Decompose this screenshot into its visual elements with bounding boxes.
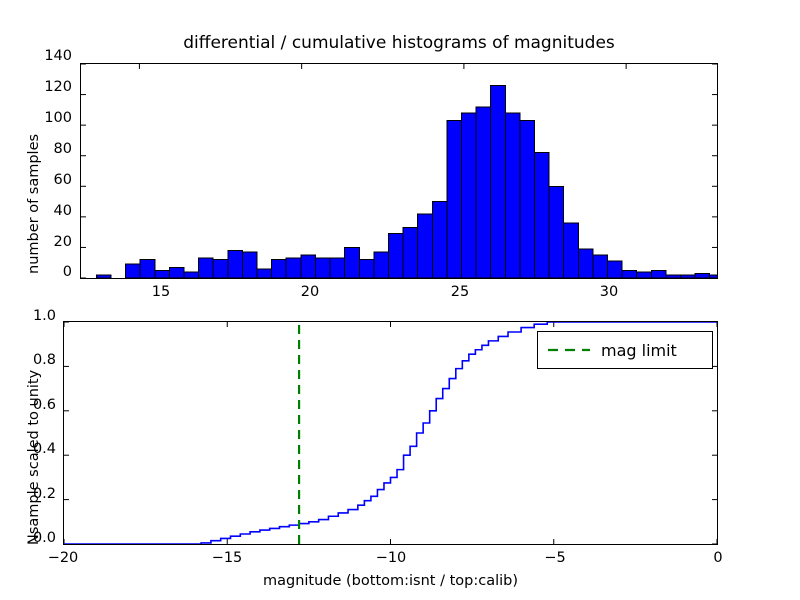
dashed-line-icon bbox=[547, 344, 591, 356]
figure-title: differential / cumulative histograms of … bbox=[80, 33, 718, 53]
bottom-ytick-04: 0.4 bbox=[12, 441, 56, 457]
top-ytick-0: 0 bbox=[34, 264, 72, 280]
bottom-xtick-m20: −20 bbox=[43, 550, 83, 566]
top-ytick-100: 100 bbox=[34, 110, 72, 126]
top-xtick-20: 20 bbox=[290, 284, 330, 300]
bottom-xtick-m15: −15 bbox=[207, 550, 247, 566]
top-ytick-120: 120 bbox=[34, 79, 72, 95]
differential-histogram-plot bbox=[81, 64, 717, 278]
legend: mag limit bbox=[537, 331, 713, 369]
bottom-xtick-m5: −5 bbox=[535, 550, 575, 566]
top-ytick-40: 40 bbox=[34, 203, 72, 219]
bottom-ytick-10: 1.0 bbox=[12, 308, 56, 324]
top-xtick-30: 30 bbox=[589, 284, 629, 300]
top-ytick-140: 140 bbox=[34, 48, 72, 64]
top-ytick-60: 60 bbox=[34, 172, 72, 188]
bottom-ytick-00: 0.0 bbox=[12, 530, 56, 546]
legend-label: mag limit bbox=[601, 341, 677, 360]
top-ytick-20: 20 bbox=[34, 234, 72, 250]
top-panel-axes bbox=[80, 63, 718, 279]
bottom-ytick-02: 0.2 bbox=[12, 486, 56, 502]
top-ytick-80: 80 bbox=[34, 141, 72, 157]
bottom-xtick-0: 0 bbox=[698, 550, 738, 566]
bottom-xtick-m10: −10 bbox=[371, 550, 411, 566]
top-xtick-25: 25 bbox=[440, 284, 480, 300]
figure-canvas: differential / cumulative histograms of … bbox=[0, 0, 800, 600]
bottom-ytick-06: 0.6 bbox=[12, 397, 56, 413]
bottom-panel-xlabel: magnitude (bottom:isnt / top:calib) bbox=[63, 573, 718, 589]
top-xtick-15: 15 bbox=[141, 284, 181, 300]
legend-entry-mag-limit[interactable]: mag limit bbox=[538, 332, 712, 368]
bottom-ytick-08: 0.8 bbox=[12, 352, 56, 368]
